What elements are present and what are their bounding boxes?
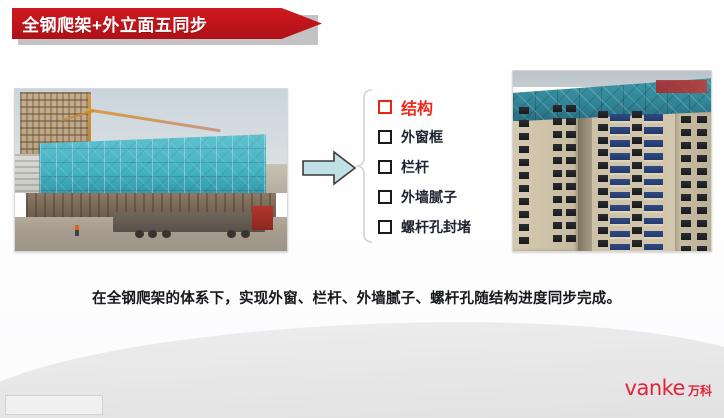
truck-wheel xyxy=(241,230,250,238)
caption-text: 在全钢爬架的体系下，实现外窗、栏杆、外墙腻子、螺杆孔随结构进度同步完成。 xyxy=(62,289,652,309)
window-opening xyxy=(697,155,707,162)
balcony-ledge xyxy=(644,211,664,213)
square-bullet-icon xyxy=(378,190,392,204)
truck-wheel xyxy=(135,230,144,238)
window-opening xyxy=(566,118,576,125)
window-opening xyxy=(598,149,608,156)
list-item-label: 栏杆 xyxy=(401,157,429,177)
window-opening xyxy=(697,142,707,149)
balcony-ledge xyxy=(610,185,630,187)
window-opening xyxy=(566,157,576,164)
window-opening xyxy=(553,183,563,190)
window-opening xyxy=(632,227,642,234)
vanke-logo: vanke 万科 xyxy=(625,376,712,400)
balcony-ledge xyxy=(644,121,664,123)
window-opening xyxy=(681,233,691,240)
balcony-ledge xyxy=(644,147,664,149)
window-opening xyxy=(681,116,691,123)
window-opening xyxy=(632,188,642,195)
balcony-ledge xyxy=(610,134,630,136)
window-opening xyxy=(632,201,642,208)
window-opening xyxy=(598,214,608,221)
list-item-label: 结构 xyxy=(401,95,433,119)
truck-cab xyxy=(252,206,274,230)
window-opening xyxy=(681,129,691,136)
list-item-label: 螺杆孔封堵 xyxy=(401,217,471,237)
square-bullet-icon xyxy=(378,160,392,174)
list-item-label: 外墙腻子 xyxy=(401,187,457,207)
window-opening xyxy=(553,118,563,125)
window-opening xyxy=(566,131,576,138)
balcony-ledge xyxy=(610,121,630,123)
list-item-window-frame[interactable]: 外窗框 xyxy=(378,122,528,152)
tower-crane-mast xyxy=(88,94,91,149)
photo-right-content xyxy=(513,71,711,251)
window-opening xyxy=(681,181,691,188)
logo-wordmark-cn: 万科 xyxy=(688,382,712,399)
curly-brace-icon xyxy=(352,88,376,244)
page-title: 全钢爬架+外立面五同步 xyxy=(12,11,207,36)
truck-wheel xyxy=(162,230,171,238)
window-opening xyxy=(681,142,691,149)
window-opening xyxy=(566,105,576,112)
window-opening xyxy=(553,209,563,216)
balcony-ledge xyxy=(610,224,630,226)
title-banner: 全钢爬架+外立面五同步 xyxy=(12,8,322,39)
feature-list: 结构 外窗框 栏杆 外墙腻子 螺杆孔封堵 xyxy=(378,92,528,242)
balcony-ledge xyxy=(610,211,630,213)
window-opening xyxy=(553,196,563,203)
window-opening xyxy=(632,149,642,156)
window-opening xyxy=(566,196,576,203)
balcony-ledge xyxy=(644,185,664,187)
window-opening xyxy=(598,175,608,182)
balcony-ledge xyxy=(644,224,664,226)
window-opening xyxy=(632,124,642,131)
balcony-ledge xyxy=(644,134,664,136)
window-opening xyxy=(697,168,707,175)
arrow-right-icon xyxy=(301,150,357,186)
balcony-ledge xyxy=(610,198,630,200)
window-opening xyxy=(697,233,707,240)
window-opening xyxy=(598,240,608,247)
balcony-ledge xyxy=(644,173,664,175)
window-opening xyxy=(632,214,642,221)
window-opening xyxy=(553,144,563,151)
list-item-tie-hole-sealing[interactable]: 螺杆孔封堵 xyxy=(378,212,528,242)
window-opening xyxy=(553,170,563,177)
balcony-ledge xyxy=(610,250,630,252)
window-opening xyxy=(697,207,707,214)
window-opening xyxy=(598,227,608,234)
brace-shape xyxy=(352,88,376,244)
balcony-ledge xyxy=(644,250,664,252)
window-opening xyxy=(598,124,608,131)
window-opening xyxy=(697,181,707,188)
window-opening xyxy=(553,235,563,242)
window-opening xyxy=(632,137,642,144)
window-opening xyxy=(681,220,691,227)
window-opening xyxy=(697,220,707,227)
window-opening xyxy=(681,168,691,175)
flatbed-truck xyxy=(113,212,265,231)
window-opening xyxy=(697,246,707,252)
window-opening xyxy=(598,201,608,208)
window-grid xyxy=(513,71,711,251)
window-opening xyxy=(566,222,576,229)
window-opening xyxy=(697,194,707,201)
square-bullet-icon xyxy=(378,220,392,234)
balcony-ledge xyxy=(610,173,630,175)
square-bullet-icon xyxy=(378,130,392,144)
balcony-ledge xyxy=(644,160,664,162)
window-opening xyxy=(566,183,576,190)
window-opening xyxy=(697,116,707,123)
photo-construction-site-scaffold xyxy=(14,88,288,252)
list-item-label: 外窗框 xyxy=(401,127,443,147)
window-opening xyxy=(553,157,563,164)
window-opening xyxy=(598,137,608,144)
window-opening xyxy=(681,207,691,214)
slide-canvas: 全钢爬架+外立面五同步 xyxy=(0,0,724,418)
steel-climbing-scaffold xyxy=(39,134,266,199)
site-worker xyxy=(75,225,79,236)
window-opening xyxy=(681,155,691,162)
window-opening xyxy=(697,129,707,136)
window-opening xyxy=(598,188,608,195)
window-opening xyxy=(632,111,642,118)
balcony-ledge xyxy=(610,147,630,149)
window-opening xyxy=(553,131,563,138)
square-bullet-icon xyxy=(378,100,392,114)
window-opening xyxy=(632,162,642,169)
window-opening xyxy=(566,170,576,177)
window-opening xyxy=(566,144,576,151)
photo-left-content xyxy=(15,89,287,251)
footer-swoosh xyxy=(0,307,724,418)
balcony-ledge xyxy=(644,198,664,200)
list-item-exterior-putty[interactable]: 外墙腻子 xyxy=(378,182,528,212)
list-item-railing[interactable]: 栏杆 xyxy=(378,152,528,182)
balcony-ledge xyxy=(644,237,664,239)
window-opening xyxy=(632,240,642,247)
window-opening xyxy=(553,222,563,229)
window-opening xyxy=(681,246,691,252)
window-opening xyxy=(566,235,576,242)
list-item-structure[interactable]: 结构 xyxy=(378,92,528,122)
photo-finished-facade-building xyxy=(512,70,712,252)
logo-wordmark-en: vanke xyxy=(625,376,685,400)
balcony-ledge xyxy=(610,160,630,162)
footer-placeholder-box xyxy=(5,395,103,415)
window-opening xyxy=(632,175,642,182)
process-arrow-icon xyxy=(301,150,357,186)
window-opening xyxy=(553,105,563,112)
window-opening xyxy=(681,194,691,201)
window-opening xyxy=(598,111,608,118)
balcony-ledge xyxy=(610,237,630,239)
window-opening xyxy=(598,162,608,169)
window-opening xyxy=(566,209,576,216)
